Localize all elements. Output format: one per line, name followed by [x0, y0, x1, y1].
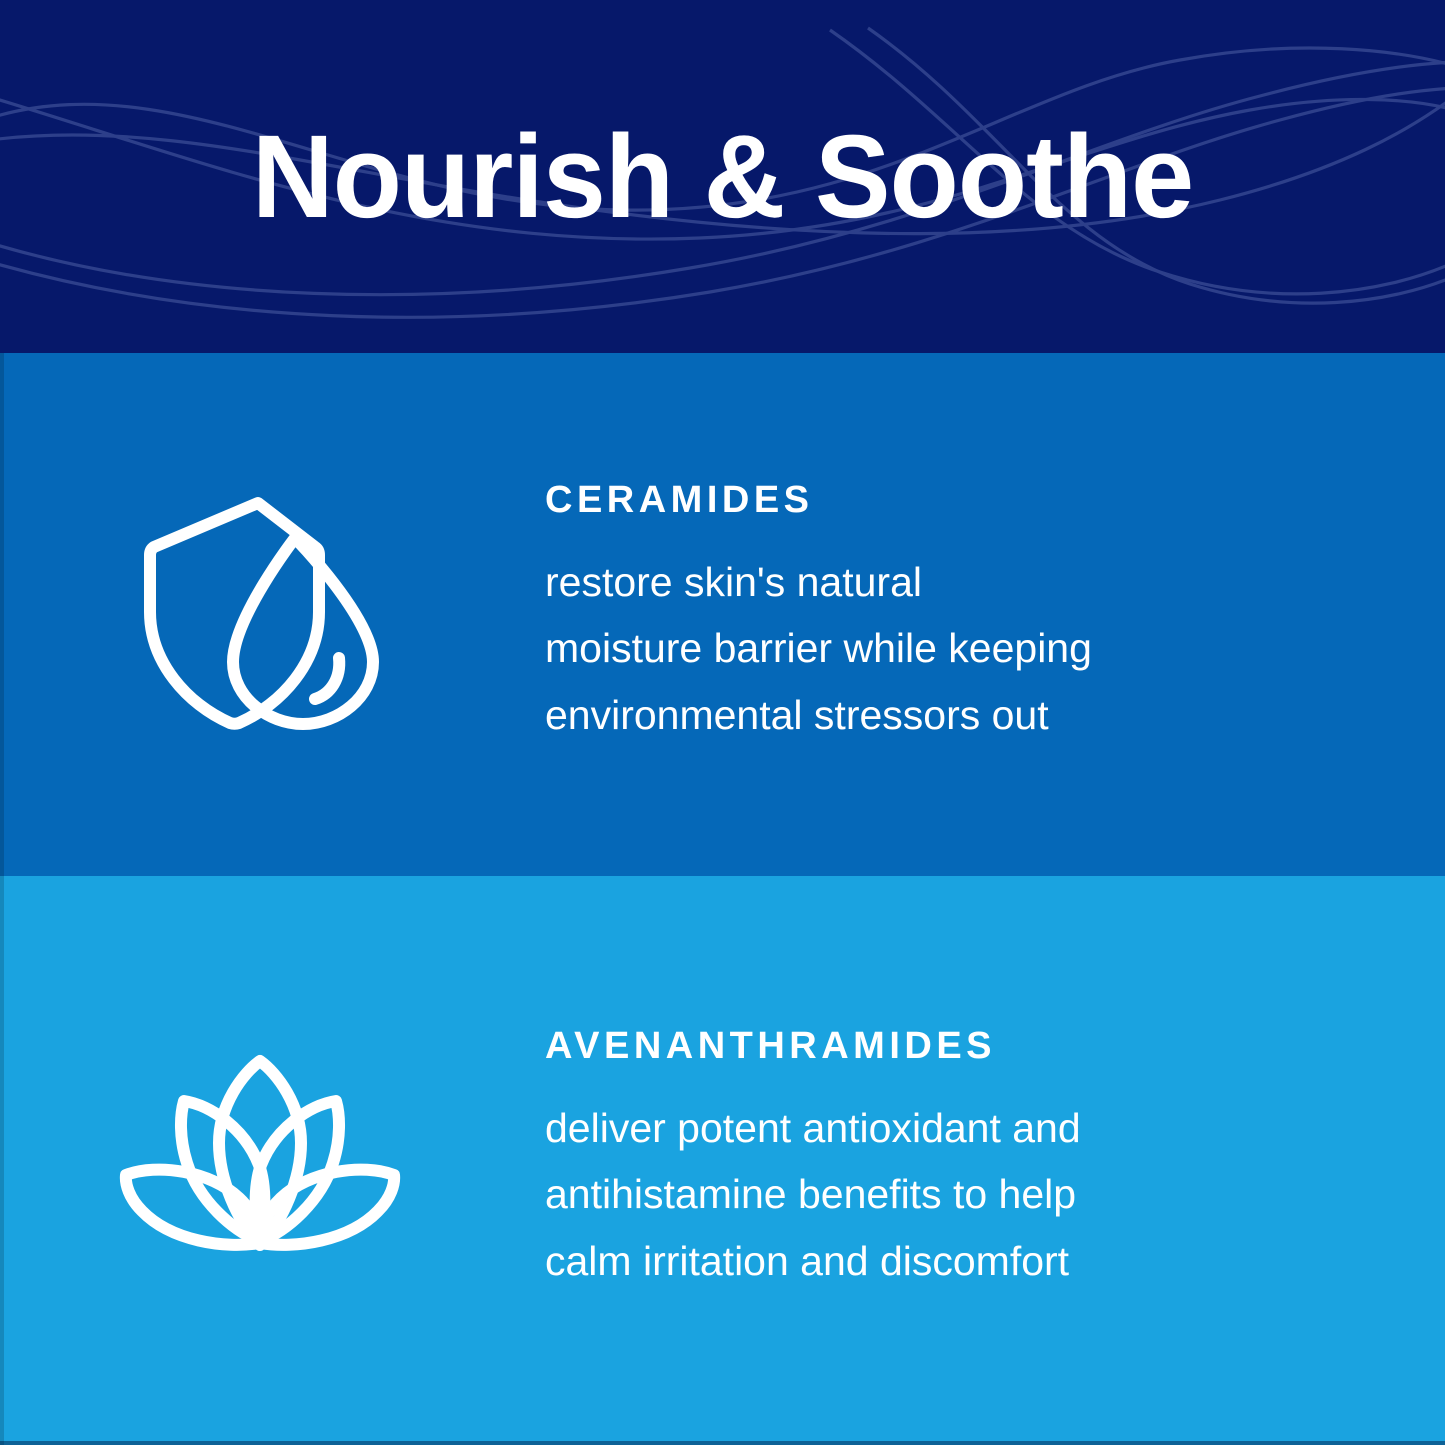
- lotus-flower-icon: [115, 1053, 405, 1268]
- feature-description-ceramides: restore skin's natural moisture barrier …: [545, 549, 1305, 748]
- feature-desc-line: deliver potent antioxidant and: [545, 1095, 1305, 1161]
- feature-title-avenanthramides: AVENANTHRAMIDES: [545, 1027, 1385, 1065]
- feature-desc-line: environmental stressors out: [545, 682, 1305, 748]
- feature-block-ceramides: CERAMIDES restore skin's natural moistur…: [0, 353, 1445, 876]
- feature-desc-line: moisture barrier while keeping: [545, 615, 1305, 681]
- feature-icon-wrapper-ceramides: [0, 490, 545, 740]
- feature-desc-line: restore skin's natural: [545, 549, 1305, 615]
- feature-block-avenanthramides: AVENANTHRAMIDES deliver potent antioxida…: [0, 876, 1445, 1445]
- product-benefits-infographic: Nourish & Soothe CERAMIDES restore skin'…: [0, 0, 1445, 1445]
- feature-desc-line: antihistamine benefits to help: [545, 1161, 1305, 1227]
- feature-title-ceramides: CERAMIDES: [545, 481, 1385, 519]
- feature-text-avenanthramides: AVENANTHRAMIDES deliver potent antioxida…: [545, 1027, 1445, 1294]
- header-banner: Nourish & Soothe: [0, 0, 1445, 353]
- page-title: Nourish & Soothe: [29, 0, 1416, 353]
- shield-droplet-icon: [125, 490, 395, 740]
- feature-icon-wrapper-avenanthramides: [0, 1053, 545, 1268]
- feature-text-ceramides: CERAMIDES restore skin's natural moistur…: [545, 481, 1445, 748]
- feature-desc-line: calm irritation and discomfort: [545, 1228, 1305, 1294]
- feature-description-avenanthramides: deliver potent antioxidant and antihista…: [545, 1095, 1305, 1294]
